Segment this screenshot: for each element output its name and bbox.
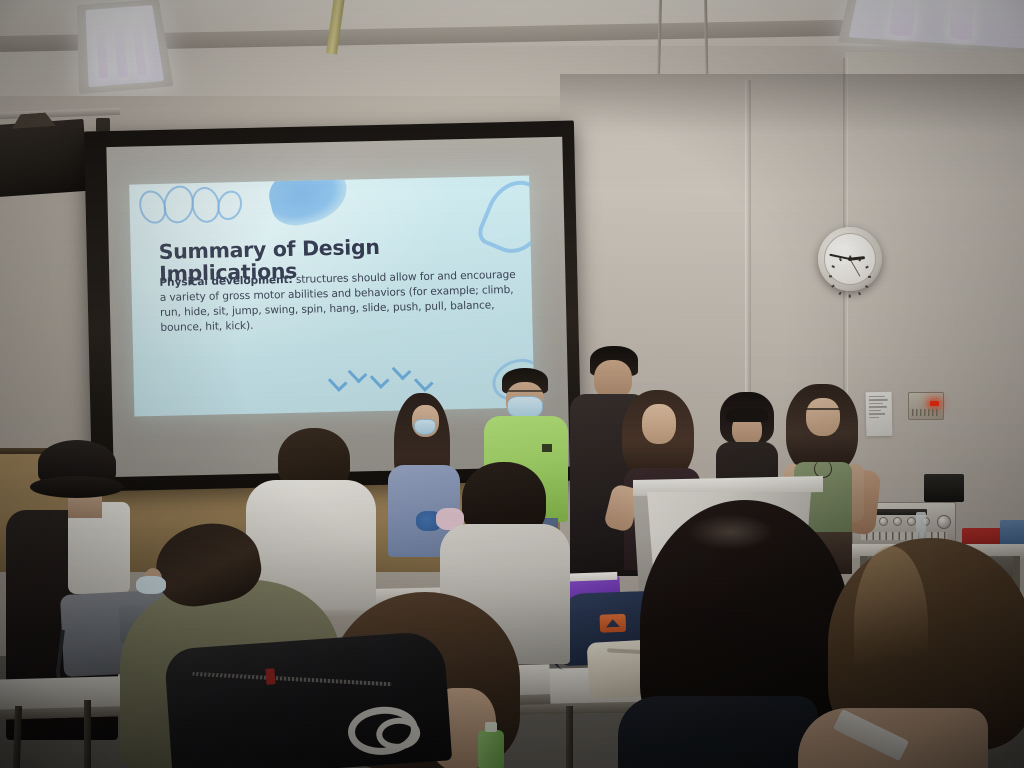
wall-shadow [560, 74, 1024, 134]
wall-notice-sheet [866, 392, 893, 436]
light-panel [86, 5, 165, 87]
clock-tick [829, 276, 832, 278]
backpack-logo [600, 614, 627, 633]
doodle-check-icon [392, 361, 412, 381]
notice-line [869, 417, 879, 418]
clock-tick [868, 276, 871, 278]
doodle-check-icon [370, 369, 390, 389]
face-mask-icon [414, 419, 436, 435]
table-leg [84, 700, 91, 768]
wall-speaker-icon [0, 119, 88, 197]
notice-line [869, 396, 885, 398]
hair-highlight [688, 514, 774, 550]
doodle-check-icon [348, 364, 368, 384]
screen-mount-bracket [96, 118, 110, 132]
clock-tick [865, 265, 869, 268]
hair-highlight [854, 546, 928, 706]
notice-line [869, 399, 888, 401]
amp-knob[interactable] [879, 517, 888, 526]
clock-face [824, 233, 876, 285]
hat-brim [30, 476, 124, 498]
light-tube [113, 13, 128, 78]
clock-tick [839, 258, 842, 262]
notice-line [869, 410, 881, 412]
green-bottle [478, 730, 504, 768]
doodle-check-icon [414, 372, 434, 392]
status-led-indicator [930, 401, 939, 406]
face [642, 404, 676, 444]
table-leg [566, 706, 573, 768]
face-mask-icon [136, 576, 166, 594]
classroom-photo: Summary of Design Implications Physical … [0, 0, 1024, 768]
shirt-logo [542, 444, 552, 452]
doodle-blob-icon [264, 176, 353, 231]
table-leg [13, 706, 22, 768]
face [806, 398, 840, 436]
doodle-check-icon [328, 372, 348, 392]
clock-center-pin [848, 257, 852, 261]
electrical-box [908, 392, 944, 420]
glasses-icon [806, 408, 840, 415]
torso [618, 696, 818, 768]
light-tube [95, 14, 108, 79]
black-backpack [164, 630, 452, 768]
doodle-loop-icon [214, 187, 246, 223]
student-blonde-hair [828, 538, 1024, 768]
backpack-tag [265, 668, 275, 685]
projected-slide: Summary of Design Implications Physical … [129, 176, 534, 417]
notice-line [869, 413, 885, 415]
bottle-cap [485, 722, 497, 732]
notice-line [869, 403, 883, 405]
clock-tick [849, 294, 851, 297]
wall-clock-icon [818, 227, 882, 291]
hair-bangs [726, 408, 768, 422]
slide-body-lead: Physical development: [159, 274, 292, 289]
amp-knob[interactable] [893, 517, 902, 526]
light-tube [889, 0, 918, 36]
backpack-zipper [192, 672, 392, 686]
ceiling-light-left-icon [77, 0, 174, 94]
light-tube [949, 0, 974, 40]
amp-knob[interactable] [907, 517, 916, 526]
notice-line [869, 406, 887, 408]
small-monitor [924, 474, 964, 502]
slide-body-text: Physical development: structures should … [159, 268, 518, 336]
amp-knob[interactable] [937, 515, 951, 529]
box-vent-slots [912, 409, 940, 416]
clock-tick [831, 265, 835, 268]
light-tube [130, 12, 147, 77]
